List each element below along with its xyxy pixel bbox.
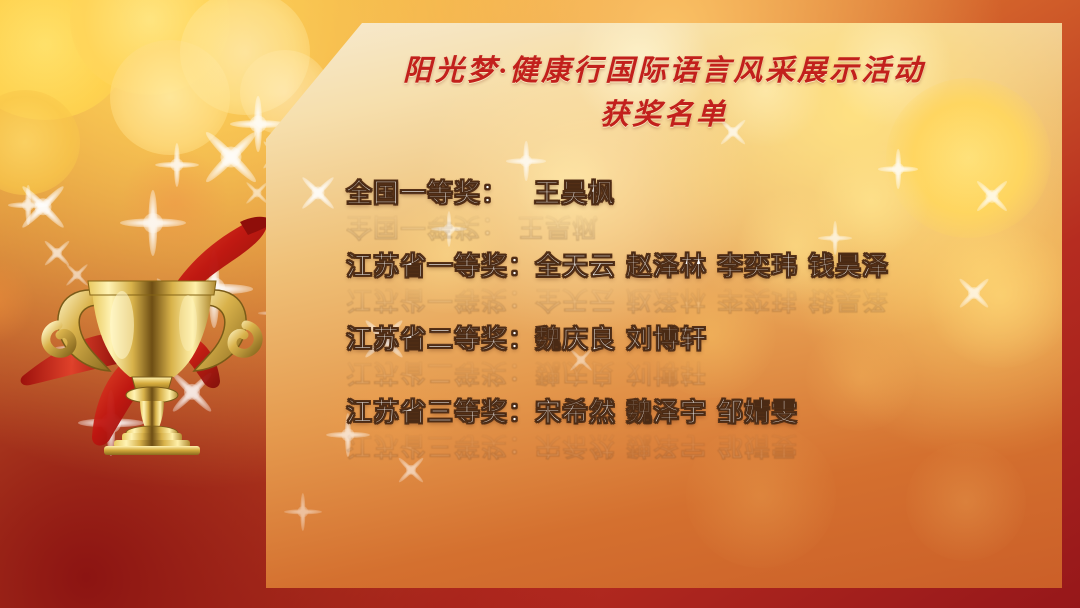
trophy-icon	[18, 175, 286, 455]
award-row-reflection: 江苏省一等奖：全天云 赵泽林 李奕玮 钱昊泽	[346, 283, 889, 320]
bokeh-circle	[110, 40, 230, 155]
award-label: 江苏省二等奖：	[346, 325, 535, 355]
award-row-text: 江苏省一等奖：全天云 赵泽林 李奕玮 钱昊泽 江苏省一等奖：全天云 赵泽林 李奕…	[346, 246, 889, 283]
award-label: 全国一等奖：	[346, 179, 508, 209]
bokeh-circle	[180, 0, 310, 115]
award-list: 全国一等奖：王昊枫 全国一等奖： 王昊枫 江苏省一等奖：全天云 赵泽林 李奕玮 …	[346, 173, 1042, 465]
award-row-reflection: 全国一等奖： 王昊枫	[346, 210, 599, 247]
award-names: 宋希然 魏泽宇 邹婧雯	[535, 398, 798, 428]
award-row-reflection: 江苏省三等奖：宋希然 魏泽宇 邹婧雯	[346, 429, 798, 466]
award-row: 江苏省三等奖：宋希然 魏泽宇 邹婧雯 江苏省三等奖：宋希然 魏泽宇 邹婧雯	[346, 392, 1042, 465]
trophy-bowl-highlight-2	[179, 295, 197, 351]
poster-title-line-1: 阳光梦·健康行国际语言风采展示活动	[266, 49, 1062, 93]
award-row: 江苏省一等奖：全天云 赵泽林 李奕玮 钱昊泽 江苏省一等奖：全天云 赵泽林 李奕…	[346, 246, 1042, 319]
award-names: 王昊枫	[534, 179, 615, 209]
award-row-text: 全国一等奖：王昊枫 全国一等奖： 王昊枫	[346, 173, 615, 210]
trophy-collar	[126, 387, 178, 403]
award-names: 全天云 赵泽林 李奕玮 钱昊泽	[535, 252, 889, 282]
trophy-bowl-highlight	[110, 291, 134, 359]
bokeh-circle	[70, 0, 230, 95]
award-row: 江苏省二等奖：魏庆良 刘博轩 江苏省二等奖：魏庆良 刘博轩	[346, 319, 1042, 392]
panel-inner: 阳光梦·健康行国际语言风采展示活动 获奖名单 全国一等奖：王昊枫 全国一等奖： …	[266, 23, 1062, 588]
sparkle-star	[287, 162, 349, 224]
award-label: 江苏省一等奖：	[346, 252, 535, 282]
award-names: 魏庆良 刘博轩	[535, 325, 707, 355]
trophy-base-bottom	[104, 446, 200, 455]
trophy-graphic	[18, 175, 286, 455]
poster-canvas: 阳光梦·健康行国际语言风采展示活动 获奖名单 全国一等奖：王昊枫 全国一等奖： …	[0, 0, 1080, 608]
bokeh-circle	[0, 0, 130, 120]
title-block: 阳光梦·健康行国际语言风采展示活动 获奖名单	[266, 49, 1062, 137]
award-label: 江苏省三等奖：	[346, 398, 535, 428]
award-row-text: 江苏省三等奖：宋希然 魏泽宇 邹婧雯 江苏省三等奖：宋希然 魏泽宇 邹婧雯	[346, 392, 798, 429]
sparkle-star	[284, 493, 322, 531]
award-list-panel: 阳光梦·健康行国际语言风采展示活动 获奖名单 全国一等奖：王昊枫 全国一等奖： …	[266, 23, 1062, 588]
trophy-rim	[88, 281, 216, 295]
award-row: 全国一等奖：王昊枫 全国一等奖： 王昊枫	[346, 173, 1042, 246]
award-row-text: 江苏省二等奖：魏庆良 刘博轩 江苏省二等奖：魏庆良 刘博轩	[346, 319, 707, 356]
poster-title-line-2: 获奖名单	[266, 93, 1062, 137]
award-row-reflection: 江苏省二等奖：魏庆良 刘博轩	[346, 356, 707, 393]
